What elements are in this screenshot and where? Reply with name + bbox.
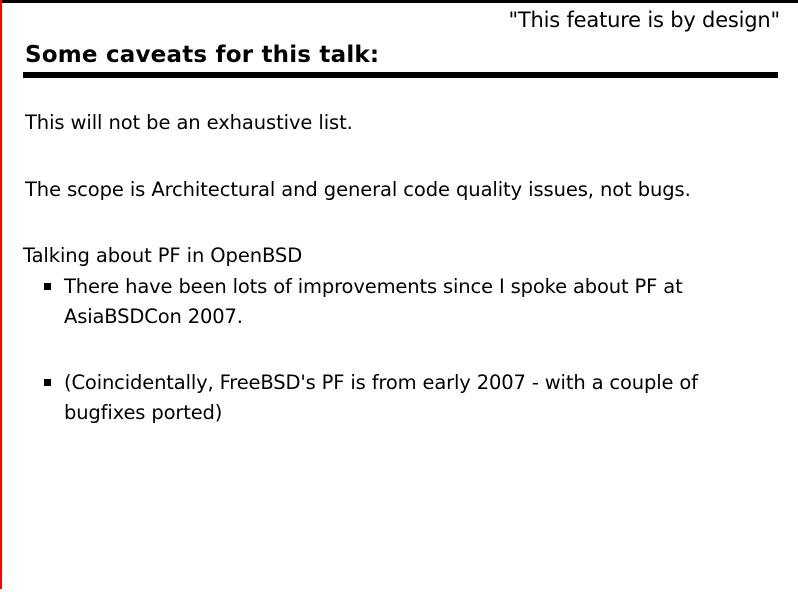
body-paragraph-3: Talking about PF in OpenBSD <box>23 243 302 269</box>
header-kicker-quote: "This feature is by design" <box>508 8 780 32</box>
body-paragraph-1: This will not be an exhaustive list. <box>25 110 353 136</box>
slide-top-border <box>0 0 798 3</box>
title-divider-rule <box>23 72 778 78</box>
bullet-list: There have been lots of improvements sin… <box>44 272 764 428</box>
list-item-label: There have been lots of improvements sin… <box>64 272 754 332</box>
list-item-label: (Coincidentally, FreeBSD's PF is from ea… <box>64 368 754 428</box>
slide-left-accent-border <box>0 0 2 589</box>
slide-header: "This feature is by design" Some caveats… <box>0 0 798 80</box>
page-title: Some caveats for this talk: <box>25 40 379 70</box>
list-item: (Coincidentally, FreeBSD's PF is from ea… <box>44 368 764 428</box>
square-bullet-icon <box>44 379 51 386</box>
body-paragraph-2: The scope is Architectural and general c… <box>25 177 691 203</box>
square-bullet-icon <box>44 283 51 290</box>
slide-body: This will not be an exhaustive list. The… <box>0 84 798 589</box>
list-item: There have been lots of improvements sin… <box>44 272 764 332</box>
